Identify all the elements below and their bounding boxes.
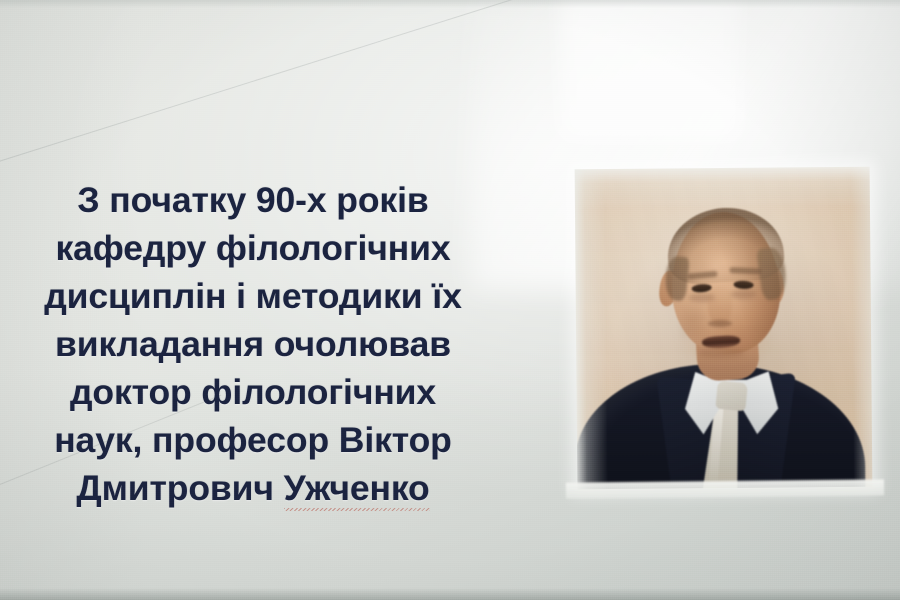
portrait-photo-inner: [575, 167, 873, 490]
slide-body-text: З початку 90-х років кафедру філологічни…: [0, 176, 506, 512]
photo-soft-focus: [575, 167, 873, 490]
text-line-3: дисциплін і методики їх: [0, 272, 506, 320]
text-line-7-prefix: Дмитрович: [76, 468, 283, 508]
frame-band-bottom: [0, 588, 900, 600]
presentation-slide-photo: З початку 90-х років кафедру філологічни…: [0, 0, 900, 600]
text-line-1: З початку 90-х років: [0, 176, 506, 224]
misspelled-word: Ужченко: [284, 464, 430, 512]
photo-bottom-strip: [566, 479, 884, 498]
text-line-7: Дмитрович Ужченко: [0, 464, 506, 512]
text-line-5: доктор філологічних: [0, 368, 506, 416]
frame-band-top: [0, 0, 900, 8]
text-line-6: наук, професор Віктор: [0, 416, 506, 464]
text-line-4: викладання очолював: [0, 320, 506, 368]
text-line-2: кафедру філологічних: [0, 224, 506, 272]
portrait-photo: [575, 167, 873, 490]
